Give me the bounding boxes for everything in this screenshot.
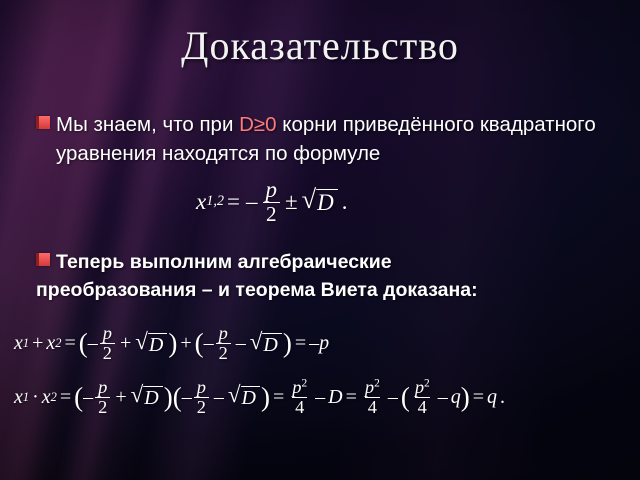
formula-product-minus-4: –	[385, 386, 401, 409]
formula-roots-subscript: 1,2	[206, 193, 224, 210]
formula-roots-equals: =	[224, 189, 243, 215]
formula-product-frac5-den: 4	[415, 397, 430, 417]
formula-product-frac5-sup: 2	[424, 377, 430, 389]
formula-product-frac5-num: p	[415, 377, 424, 397]
bullet-item-2: Теперь выполним алгебраические преобразо…	[36, 248, 608, 304]
formula-product-frac3-den: 4	[292, 397, 307, 417]
formula-product-minus-1: –	[83, 386, 93, 409]
formula-sum-frac1-den: 2	[100, 343, 115, 363]
formula-sum-fraction-1: p 2	[100, 324, 115, 364]
formula-product-fraction-5: p2 4	[412, 378, 433, 418]
formula-product-equals-2: =	[270, 386, 287, 409]
formula-sum-frac2-den: 2	[216, 343, 231, 363]
formula-sum-open-paren-1: (	[79, 332, 88, 355]
formula-roots-minus: –	[243, 189, 261, 215]
formula-product-minus-2: –	[182, 386, 192, 409]
page-title: Доказательство	[0, 22, 640, 69]
formula-sum-result-minus: –	[309, 332, 319, 355]
formula-sum-radical-2: √ D	[250, 331, 282, 357]
formula-product-frac4-num-wrap: p2	[362, 378, 383, 397]
formula-product-frac3-sup: 2	[301, 377, 307, 389]
formula-sum-radical-1: √ D	[135, 331, 167, 357]
formula-sum-equals-2: =	[292, 332, 309, 355]
bullet-item-1: Мы знаем, что при D≥0 корни приведённого…	[36, 110, 608, 168]
formula-product-x2: x	[42, 386, 51, 409]
bullet-2-line-2: преобразования – и теорема Виета доказан…	[36, 276, 608, 304]
formula-product-radical-2: √ D	[228, 384, 260, 410]
formula-product-fraction-4: p2 4	[362, 378, 383, 418]
formula-product-equals: =	[57, 386, 74, 409]
formula-product-fraction-2: p 2	[194, 378, 209, 418]
formula-product-open-paren-1: (	[74, 386, 83, 409]
formula-sum-close-paren-1: )	[168, 332, 177, 355]
formula-roots: x1,2 = – p 2 ± √ D .	[196, 178, 351, 225]
formula-product-q-inner: q	[451, 386, 461, 409]
formula-sum-radicand-2: D	[262, 333, 281, 357]
bullet-1-highlight: D≥0	[239, 113, 276, 136]
formula-sum-frac2-num: p	[216, 324, 231, 343]
formula-product-result: q	[487, 386, 497, 409]
formula-product-frac4-num: p	[365, 377, 374, 397]
formula-product: x1 · x2 = ( – p 2 + √ D ) ( – p	[14, 378, 508, 418]
formula-product-dot: ·	[29, 386, 42, 409]
formula-product-frac3-num-wrap: p2	[289, 378, 310, 397]
bullet-2-line-1: Теперь выполним алгебраические	[56, 251, 392, 273]
slide: Доказательство Мы знаем, что при D≥0 кор…	[0, 0, 640, 480]
formula-product-minus-D: –	[312, 386, 328, 409]
formula-product-frac1-den: 2	[95, 397, 110, 417]
formula-roots-frac-denominator: 2	[263, 202, 280, 225]
formula-product-frac5-num-wrap: p2	[412, 378, 433, 397]
formula-product-close-paren-2: )	[261, 386, 270, 409]
radical-sign-icon: √	[135, 330, 148, 356]
formula-sum-open-paren-2: (	[195, 332, 204, 355]
formula-product-period: .	[497, 386, 508, 409]
formula-product-open-paren-2: (	[173, 386, 182, 409]
formula-sum-fraction-2: p 2	[216, 324, 231, 364]
formula-roots-frac-numerator: p	[263, 178, 281, 202]
formula-roots-fraction: p 2	[263, 178, 281, 225]
formula-sum-close-paren-2: )	[283, 332, 292, 355]
formula-sum-frac1-num: p	[100, 324, 115, 343]
formula-sum-plus-mid: +	[177, 332, 194, 355]
formula-product-radicand-2: D	[241, 386, 260, 410]
bullet-2-text: Теперь выполним алгебраические преобразо…	[56, 248, 608, 304]
bullet-1-text: Мы знаем, что при D≥0 корни приведённого…	[56, 110, 608, 168]
formula-sum-minus-3: –	[233, 332, 249, 355]
red-square-bullet-icon	[36, 253, 50, 266]
formula-product-frac1-num: p	[95, 378, 110, 397]
formula-product-open-paren-3: (	[401, 386, 410, 409]
formula-roots-plusminus: ±	[282, 189, 301, 215]
formula-product-fraction-3: p2 4	[289, 378, 310, 418]
formula-sum-equals: =	[61, 332, 78, 355]
formula-product-close-paren-3: )	[461, 386, 470, 409]
formula-product-radicand-1: D	[143, 386, 162, 410]
formula-product-frac2-den: 2	[194, 397, 209, 417]
formula-product-frac4-sup: 2	[374, 377, 380, 389]
formula-roots-period: .	[339, 189, 351, 215]
formula-sum-radicand-1: D	[148, 333, 167, 357]
formula-sum-minus-1: –	[88, 332, 98, 355]
formula-sum-result: p	[319, 332, 329, 355]
slide-content: Доказательство Мы знаем, что при D≥0 кор…	[0, 0, 640, 480]
radical-sign-icon: √	[250, 330, 263, 356]
red-square-bullet-icon	[36, 116, 50, 129]
formula-roots-radical: √ D	[302, 187, 338, 216]
radical-sign-icon: √	[131, 383, 144, 409]
formula-product-equals-4: =	[470, 386, 487, 409]
formula-product-radical-1: √ D	[131, 384, 163, 410]
formula-product-D: D	[328, 386, 342, 409]
formula-roots-var: x	[196, 189, 206, 215]
formula-sum-x1: x	[14, 332, 23, 355]
formula-product-x1: x	[14, 386, 23, 409]
formula-product-minus-3: –	[211, 386, 227, 409]
formula-product-minus-5: –	[435, 386, 451, 409]
radical-sign-icon: √	[302, 186, 317, 215]
formula-sum-minus-2: –	[204, 332, 214, 355]
formula-derivations: x1 + x2 = ( – p 2 + √ D ) + ( –	[14, 324, 508, 417]
formula-roots-radicand: D	[316, 189, 338, 216]
formula-product-frac4-den: 4	[365, 397, 380, 417]
formula-sum: x1 + x2 = ( – p 2 + √ D ) + ( –	[14, 324, 508, 364]
formula-product-close-paren-1: )	[164, 386, 173, 409]
radical-sign-icon: √	[228, 383, 241, 409]
formula-product-equals-3: =	[343, 386, 360, 409]
formula-sum-plus-1: +	[117, 332, 134, 355]
formula-product-frac2-num: p	[194, 378, 209, 397]
formula-sum-plus: +	[29, 332, 46, 355]
formula-product-plus-1: +	[112, 386, 129, 409]
bullet-1-text-before: Мы знаем, что при	[56, 113, 239, 136]
formula-product-fraction-1: p 2	[95, 378, 110, 418]
formula-sum-x2: x	[46, 332, 55, 355]
